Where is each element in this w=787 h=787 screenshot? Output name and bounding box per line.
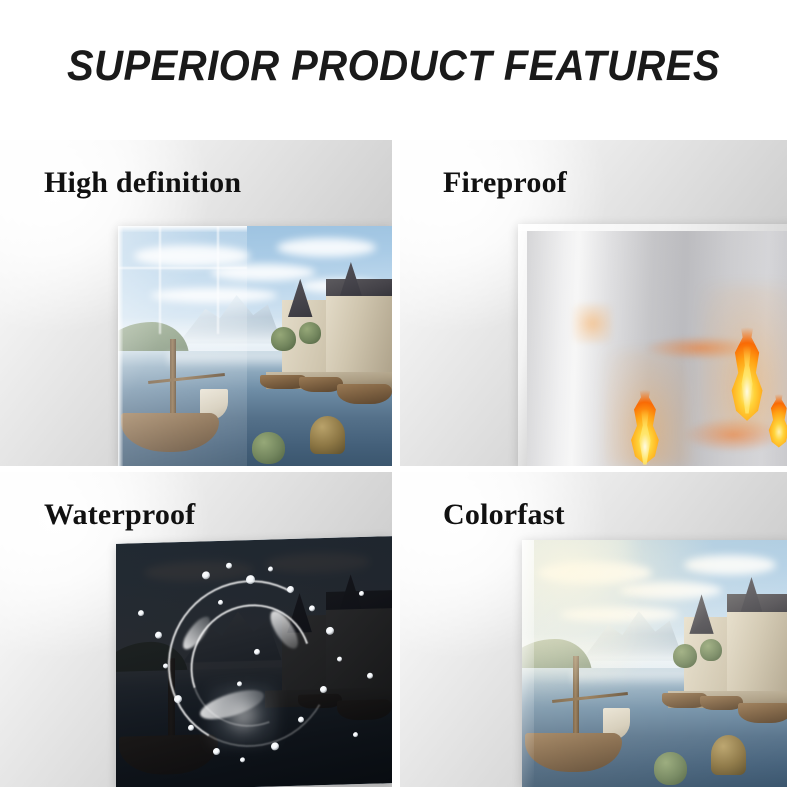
moored-boat xyxy=(299,377,343,391)
page-title: SUPERIOR PRODUCT FEATURES xyxy=(28,42,760,91)
product-features-infographic: SUPERIOR PRODUCT FEATURES xyxy=(0,0,787,787)
glass-left-bevel xyxy=(118,226,123,466)
high-definition-product-panel xyxy=(118,226,392,466)
colorfast-product-panel xyxy=(522,540,787,787)
waterproof-product-panel xyxy=(116,536,392,787)
feature-label-waterproof: Waterproof xyxy=(44,498,195,532)
tree xyxy=(271,327,296,351)
panel-top-edge xyxy=(518,224,787,231)
glass-sheet-overlay xyxy=(118,226,247,466)
water-droplet xyxy=(138,610,144,616)
glass-mullion xyxy=(159,226,161,334)
water-droplet xyxy=(155,631,162,638)
water-droplet xyxy=(326,627,334,635)
water-droplet xyxy=(271,742,279,750)
moored-boat xyxy=(337,384,392,403)
water-droplet xyxy=(309,605,315,611)
feature-label-colorfast: Colorfast xyxy=(443,498,565,532)
glass-mullion xyxy=(118,267,247,269)
panel-thickness-edge xyxy=(518,224,527,466)
water-droplet xyxy=(246,575,255,584)
glass-mullion xyxy=(217,226,219,334)
feature-label-high-definition: High definition xyxy=(44,166,241,200)
scorch-mark xyxy=(573,304,612,343)
feature-label-fireproof: Fireproof xyxy=(443,166,567,200)
tree xyxy=(299,322,321,344)
glass-top-bevel xyxy=(118,226,247,232)
cloud xyxy=(277,238,376,257)
water-droplet xyxy=(202,571,210,579)
sun-ray xyxy=(522,540,630,688)
harbor-dome xyxy=(310,416,346,454)
water-droplet xyxy=(337,656,342,661)
water-droplet xyxy=(254,649,260,655)
water-droplet xyxy=(163,663,168,668)
water-droplet xyxy=(188,724,194,730)
city-building xyxy=(326,288,392,374)
fireproof-product-panel xyxy=(518,224,787,466)
tree xyxy=(252,432,285,463)
panel-edge-glow xyxy=(522,540,534,787)
